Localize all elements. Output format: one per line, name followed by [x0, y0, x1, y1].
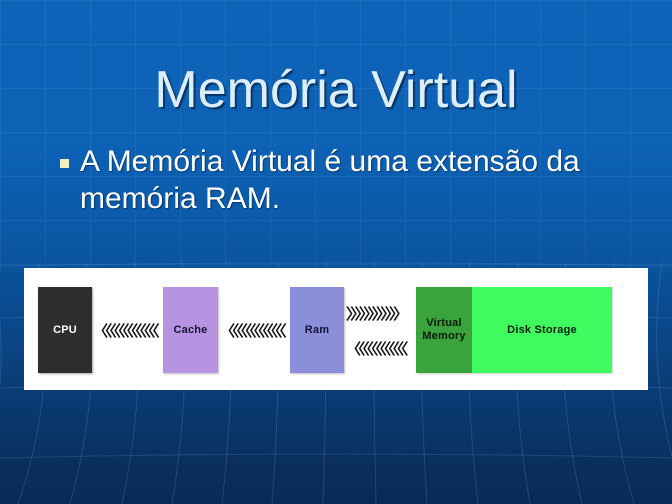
connector-ram-to-virtual-memory-icon: 〉〉〉〉〉〉〉〉〉〉〉〉	[346, 307, 405, 322]
list-item: A Memória Virtual é uma extensão da memó…	[60, 143, 630, 217]
diagram-node-cache: Cache	[163, 287, 218, 373]
diagram-node-virtual-memory: Virtual Memory	[416, 287, 472, 373]
memory-hierarchy-diagram: CPU 〈〈〈〈〈〈〈〈〈〈〈〈〈 Cache 〈〈〈〈〈〈〈〈〈〈〈〈〈 Ra…	[24, 268, 648, 390]
connector-cpu-cache-icon: 〈〈〈〈〈〈〈〈〈〈〈〈〈	[93, 324, 156, 339]
diagram-node-cpu: CPU	[38, 287, 92, 373]
diagram-node-cpu-label: CPU	[53, 324, 77, 337]
connector-virtual-memory-to-ram-icon: 〈〈〈〈〈〈〈〈〈〈〈〈	[346, 342, 405, 357]
diagram-node-virtual-memory-label: Virtual Memory	[416, 317, 472, 342]
bullet-item-label: A Memória Virtual é uma extensão da memó…	[80, 143, 605, 217]
diagram-node-disk-storage: Disk Storage	[472, 287, 612, 373]
bullet-list: A Memória Virtual é uma extensão da memó…	[60, 143, 630, 217]
background-grid-top	[0, 0, 672, 272]
diagram-node-disk-storage-label: Disk Storage	[507, 324, 577, 337]
square-bullet-icon	[60, 159, 69, 168]
presentation-slide: Memória Virtual A Memória Virtual é uma …	[0, 0, 672, 504]
page-title: Memória Virtual	[0, 63, 672, 118]
connector-cache-ram-icon: 〈〈〈〈〈〈〈〈〈〈〈〈〈	[220, 324, 283, 339]
diagram-node-ram: Ram	[290, 287, 344, 373]
diagram-node-cache-label: Cache	[173, 324, 207, 337]
diagram-node-ram-label: Ram	[305, 324, 329, 337]
